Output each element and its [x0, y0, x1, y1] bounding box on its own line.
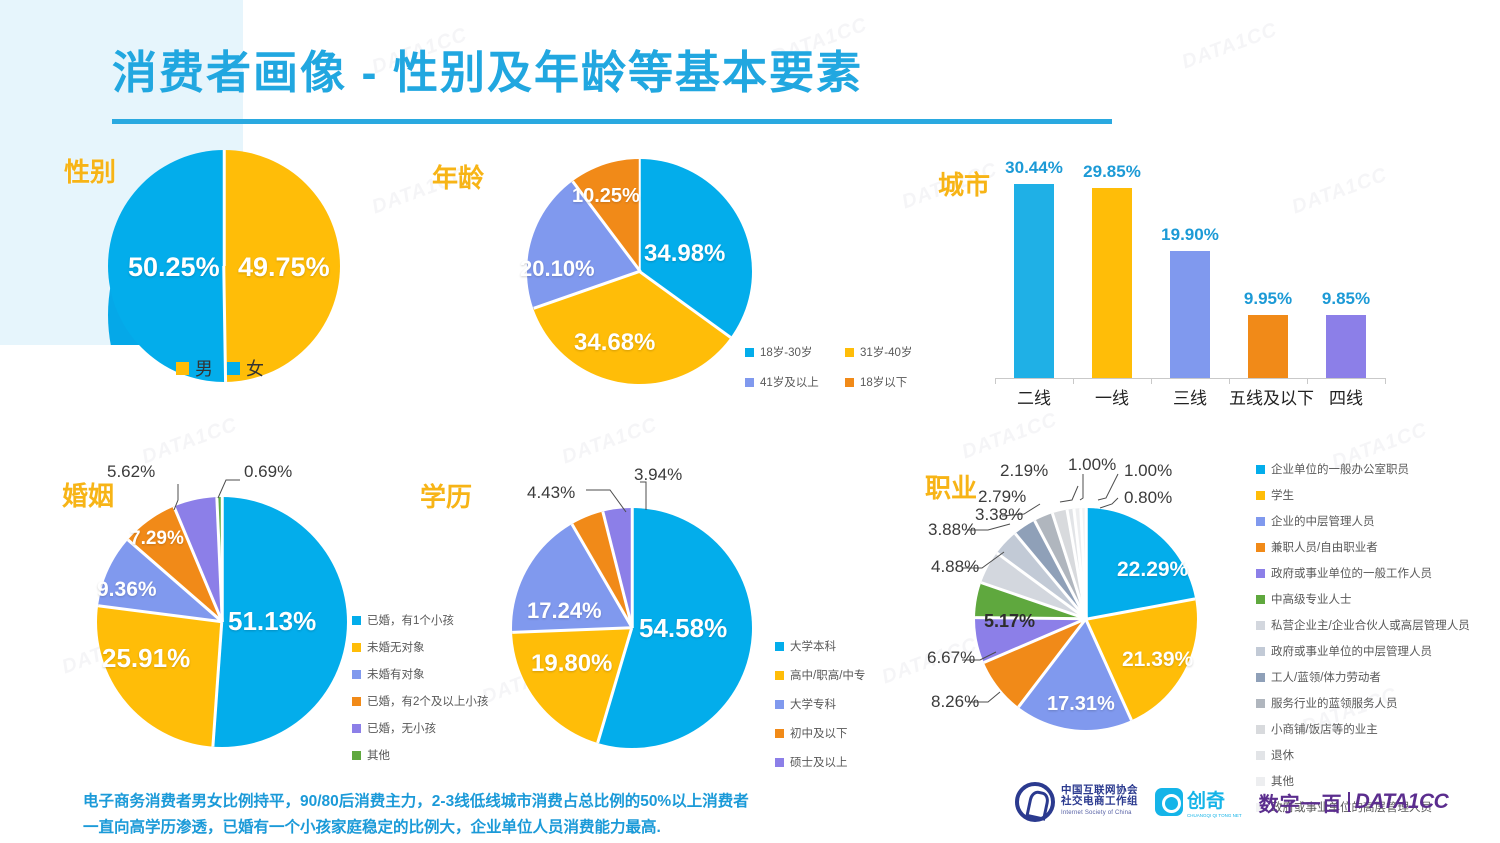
bar-column[interactable]: [1326, 315, 1366, 378]
legend-item[interactable]: 已婚，有1个小孩: [352, 612, 488, 628]
legend-swatch-icon: [775, 758, 784, 767]
bar-value-4: 9.95%: [1234, 289, 1302, 309]
legend-label: 高中/职高/中专: [790, 667, 865, 683]
data100-name-en: DATA1CC: [1355, 790, 1449, 814]
legend-label: 女: [246, 355, 264, 381]
legend-item[interactable]: 工人/蓝领/体力劳动者: [1256, 669, 1470, 685]
occupation-value-9: 3.38%: [975, 505, 1023, 525]
bar-value-2: 29.85%: [1078, 162, 1146, 182]
occupation-value-4: 8.26%: [931, 692, 979, 712]
footer-summary: 电子商务消费者男女比例持平，90/80后消费主力，2-3线低线城市消费占总比例的…: [83, 789, 749, 841]
occupation-leader-lines: [900, 440, 1200, 730]
bar-column[interactable]: [1014, 184, 1054, 378]
legend-label: 已婚，有2个及以上小孩: [367, 693, 488, 709]
bar-category-label: 三线: [1151, 384, 1229, 409]
education-value-2: 19.80%: [531, 650, 612, 678]
education-value-3: 17.24%: [527, 598, 602, 624]
bar-rect: [1014, 184, 1054, 378]
legend-item[interactable]: 18岁以下: [845, 374, 923, 390]
legend-item[interactable]: 31岁-40岁: [845, 344, 923, 360]
legend-swatch-icon: [352, 724, 361, 733]
legend-swatch-icon: [845, 348, 854, 357]
age-legend: 18岁-30岁 41岁及以上 31岁-40岁 18岁以下: [745, 344, 923, 393]
chuangqi-name: 创奇: [1187, 786, 1242, 813]
legend-item[interactable]: 企业单位的一般办公室职员: [1256, 461, 1470, 477]
marriage-value-1: 51.13%: [228, 606, 316, 637]
chuangqi-mark-icon: [1155, 788, 1183, 816]
legend-item[interactable]: 女: [227, 355, 264, 381]
occupation-value-14: 0.80%: [1124, 488, 1172, 508]
section-title-city: 城市: [938, 165, 990, 202]
legend-label: 31岁-40岁: [860, 344, 912, 360]
section-title-age: 年龄: [432, 158, 484, 195]
legend-item[interactable]: 兼职人员/自由职业者: [1256, 539, 1470, 555]
occupation-value-1: 22.29%: [1117, 558, 1188, 582]
legend-label: 未婚有对象: [367, 666, 425, 682]
education-legend: 大学本科 高中/职高/中专 大学专科 初中及以下 硕士及以上: [775, 638, 865, 773]
legend-swatch-icon: [352, 697, 361, 706]
isc-line-en: Internet Society of China: [1061, 808, 1138, 819]
legend-swatch-icon: [1256, 517, 1265, 526]
legend-swatch-icon: [745, 378, 754, 387]
bar-axis: [995, 378, 1385, 379]
isc-mark-icon: [1015, 782, 1055, 822]
legend-item[interactable]: 初中及以下: [775, 725, 865, 741]
gender-value-female: 50.25%: [128, 252, 220, 283]
legend-item[interactable]: 未婚无对象: [352, 639, 488, 655]
legend-item[interactable]: 学生: [1256, 487, 1470, 503]
age-value-under18: 10.25%: [572, 185, 640, 208]
education-leader-lines: [480, 460, 740, 550]
legend-label: 退休: [1271, 747, 1294, 763]
marriage-value-2: 25.91%: [102, 643, 190, 674]
legend-label: 已婚，无小孩: [367, 720, 436, 736]
legend-swatch-icon: [352, 616, 361, 625]
legend-item[interactable]: 服务行业的蓝领服务人员: [1256, 695, 1470, 711]
legend-swatch-icon: [1256, 725, 1265, 734]
legend-label: 工人/蓝领/体力劳动者: [1271, 669, 1381, 685]
data100-name-cn: 数字一百: [1259, 788, 1343, 817]
legend-swatch-icon: [1256, 491, 1265, 500]
legend-swatch-icon: [1256, 543, 1265, 552]
bar-column[interactable]: [1248, 315, 1288, 378]
bar-value-1: 30.44%: [1000, 158, 1068, 178]
legend-swatch-icon: [352, 751, 361, 760]
education-value-1: 54.58%: [639, 613, 727, 644]
marriage-value-6: 0.69%: [244, 462, 292, 482]
marriage-legend: 已婚，有1个小孩 未婚无对象 未婚有对象 已婚，有2个及以上小孩 已婚，无小孩 …: [352, 612, 488, 766]
legend-label: 41岁及以上: [760, 374, 819, 390]
chuangqi-name-en: CHUANGQI QI TONG NET: [1187, 813, 1242, 818]
legend-item[interactable]: 中高级专业人士: [1256, 591, 1470, 607]
legend-label: 大学专科: [790, 696, 836, 712]
chuangqi-logo-text: 创奇 CHUANGQI QI TONG NET: [1187, 786, 1242, 818]
legend-swatch-icon: [775, 700, 784, 709]
age-value-18-30: 34.98%: [644, 240, 725, 268]
footer-line-1: 电子商务消费者男女比例持平，90/80后消费主力，2-3线低线城市消费占总比例的…: [83, 789, 749, 815]
legend-swatch-icon: [1256, 673, 1265, 682]
bar-column[interactable]: [1092, 188, 1132, 378]
legend-item[interactable]: 男: [176, 355, 213, 381]
occupation-value-5: 6.67%: [927, 648, 975, 668]
education-value-4: 4.43%: [527, 483, 575, 503]
bar-rect: [1092, 188, 1132, 378]
legend-item[interactable]: 18岁-30岁: [745, 344, 823, 360]
city-bar-chart: 30.44%29.85%19.90%9.95%9.85%: [995, 168, 1385, 378]
occupation-value-6: 5.17%: [984, 611, 1035, 632]
legend-item[interactable]: 硕士及以上: [775, 754, 865, 770]
isc-logo: 中国互联网协会 社交电商工作组 Internet Society of Chin…: [1015, 782, 1138, 822]
legend-label: 小商铺/饭店等的业主: [1271, 721, 1378, 737]
bar-category-label: 五线及以下: [1229, 384, 1307, 409]
data100-logo: 数字一百 DATA1CC: [1259, 788, 1449, 817]
legend-item[interactable]: 大学专科: [775, 696, 865, 712]
legend-label: 其他: [367, 747, 390, 763]
legend-item[interactable]: 私营企业主/企业合伙人或高层管理人员: [1256, 617, 1470, 633]
legend-label: 政府或事业单位的一般工作人员: [1271, 565, 1432, 581]
isc-line-2: 社交电商工作组: [1061, 796, 1138, 807]
occupation-value-7: 4.88%: [931, 557, 979, 577]
legend-swatch-icon: [1256, 699, 1265, 708]
legend-swatch-icon: [227, 362, 240, 375]
bar-rect: [1248, 315, 1288, 378]
bar-rect: [1326, 315, 1366, 378]
legend-label: 未婚无对象: [367, 639, 425, 655]
marriage-value-5: 5.62%: [107, 462, 155, 482]
legend-label: 企业的中层管理人员: [1271, 513, 1375, 529]
occupation-value-10: 2.79%: [978, 487, 1026, 507]
bar-category-label: 四线: [1307, 384, 1385, 409]
legend-label: 硕士及以上: [790, 754, 848, 770]
data100-divider: [1348, 792, 1350, 812]
legend-label: 大学本科: [790, 638, 836, 654]
legend-swatch-icon: [775, 671, 784, 680]
footer-line-2: 一直向高学历渗透，已婚有一个小孩家庭稳定的比例大，企业单位人员消费能力最高.: [83, 815, 749, 841]
legend-label: 企业单位的一般办公室职员: [1271, 461, 1409, 477]
legend-item[interactable]: 已婚，无小孩: [352, 720, 488, 736]
legend-label: 18岁-30岁: [760, 344, 812, 360]
age-value-31-40: 34.68%: [574, 329, 655, 357]
axis-tick: [1385, 378, 1386, 384]
section-title-education: 学历: [420, 477, 472, 514]
legend-swatch-icon: [1256, 595, 1265, 604]
legend-swatch-icon: [775, 729, 784, 738]
isc-logo-text: 中国互联网协会 社交电商工作组 Internet Society of Chin…: [1061, 785, 1138, 819]
occupation-value-13: 1.00%: [1124, 461, 1172, 481]
legend-item[interactable]: 高中/职高/中专: [775, 667, 865, 683]
occupation-value-2: 21.39%: [1122, 648, 1193, 672]
bar-column[interactable]: [1170, 251, 1210, 378]
occupation-legend: 企业单位的一般办公室职员 学生 企业的中层管理人员 兼职人员/自由职业者 政府或…: [1256, 461, 1470, 818]
legend-label: 初中及以下: [790, 725, 848, 741]
chuangqi-logo: 创奇 CHUANGQI QI TONG NET: [1155, 786, 1242, 818]
legend-label: 政府或事业单位的中层管理人员: [1271, 643, 1432, 659]
legend-item[interactable]: 政府或事业单位的一般工作人员: [1256, 565, 1470, 581]
legend-item[interactable]: 已婚，有2个及以上小孩: [352, 693, 488, 709]
occupation-value-11: 2.19%: [1000, 461, 1048, 481]
legend-swatch-icon: [176, 362, 189, 375]
bar-category-label: 二线: [995, 384, 1073, 409]
gender-legend: 男 女: [176, 355, 264, 384]
legend-label: 学生: [1271, 487, 1294, 503]
legend-swatch-icon: [1256, 621, 1265, 630]
legend-swatch-icon: [352, 643, 361, 652]
legend-item[interactable]: 未婚有对象: [352, 666, 488, 682]
legend-swatch-icon: [775, 642, 784, 651]
legend-swatch-icon: [1256, 647, 1265, 656]
legend-swatch-icon: [745, 348, 754, 357]
legend-swatch-icon: [1256, 569, 1265, 578]
occupation-value-12: 1.00%: [1068, 455, 1116, 475]
legend-item[interactable]: 小商铺/饭店等的业主: [1256, 721, 1470, 737]
legend-item[interactable]: 企业的中层管理人员: [1256, 513, 1470, 529]
legend-item[interactable]: 其他: [352, 747, 488, 763]
marriage-value-4: 7.29%: [130, 528, 184, 550]
legend-label: 私营企业主/企业合伙人或高层管理人员: [1271, 617, 1470, 633]
occupation-value-3: 17.31%: [1047, 693, 1115, 716]
logo-bar: 中国互联网协会 社交电商工作组 Internet Society of Chin…: [1015, 782, 1448, 822]
legend-item[interactable]: 政府或事业单位的中层管理人员: [1256, 643, 1470, 659]
education-value-5: 3.94%: [634, 465, 682, 485]
legend-swatch-icon: [845, 378, 854, 387]
legend-label: 服务行业的蓝领服务人员: [1271, 695, 1398, 711]
occupation-value-8: 3.88%: [928, 520, 976, 540]
bar-value-5: 9.85%: [1312, 289, 1380, 309]
marriage-value-3: 9.36%: [97, 578, 157, 602]
age-value-41plus: 20.10%: [520, 256, 595, 282]
legend-swatch-icon: [352, 670, 361, 679]
legend-item[interactable]: 大学本科: [775, 638, 865, 654]
bar-category-label: 一线: [1073, 384, 1151, 409]
legend-label: 已婚，有1个小孩: [367, 612, 454, 628]
legend-item[interactable]: 41岁及以上: [745, 374, 823, 390]
legend-swatch-icon: [1256, 751, 1265, 760]
bar-value-3: 19.90%: [1156, 225, 1224, 245]
legend-label: 中高级专业人士: [1271, 591, 1352, 607]
legend-label: 兼职人员/自由职业者: [1271, 539, 1378, 555]
bar-rect: [1170, 251, 1210, 378]
legend-label: 18岁以下: [860, 374, 907, 390]
legend-label: 男: [195, 355, 213, 381]
gender-value-male: 49.75%: [238, 252, 330, 283]
legend-swatch-icon: [1256, 465, 1265, 474]
legend-item[interactable]: 退休: [1256, 747, 1470, 763]
